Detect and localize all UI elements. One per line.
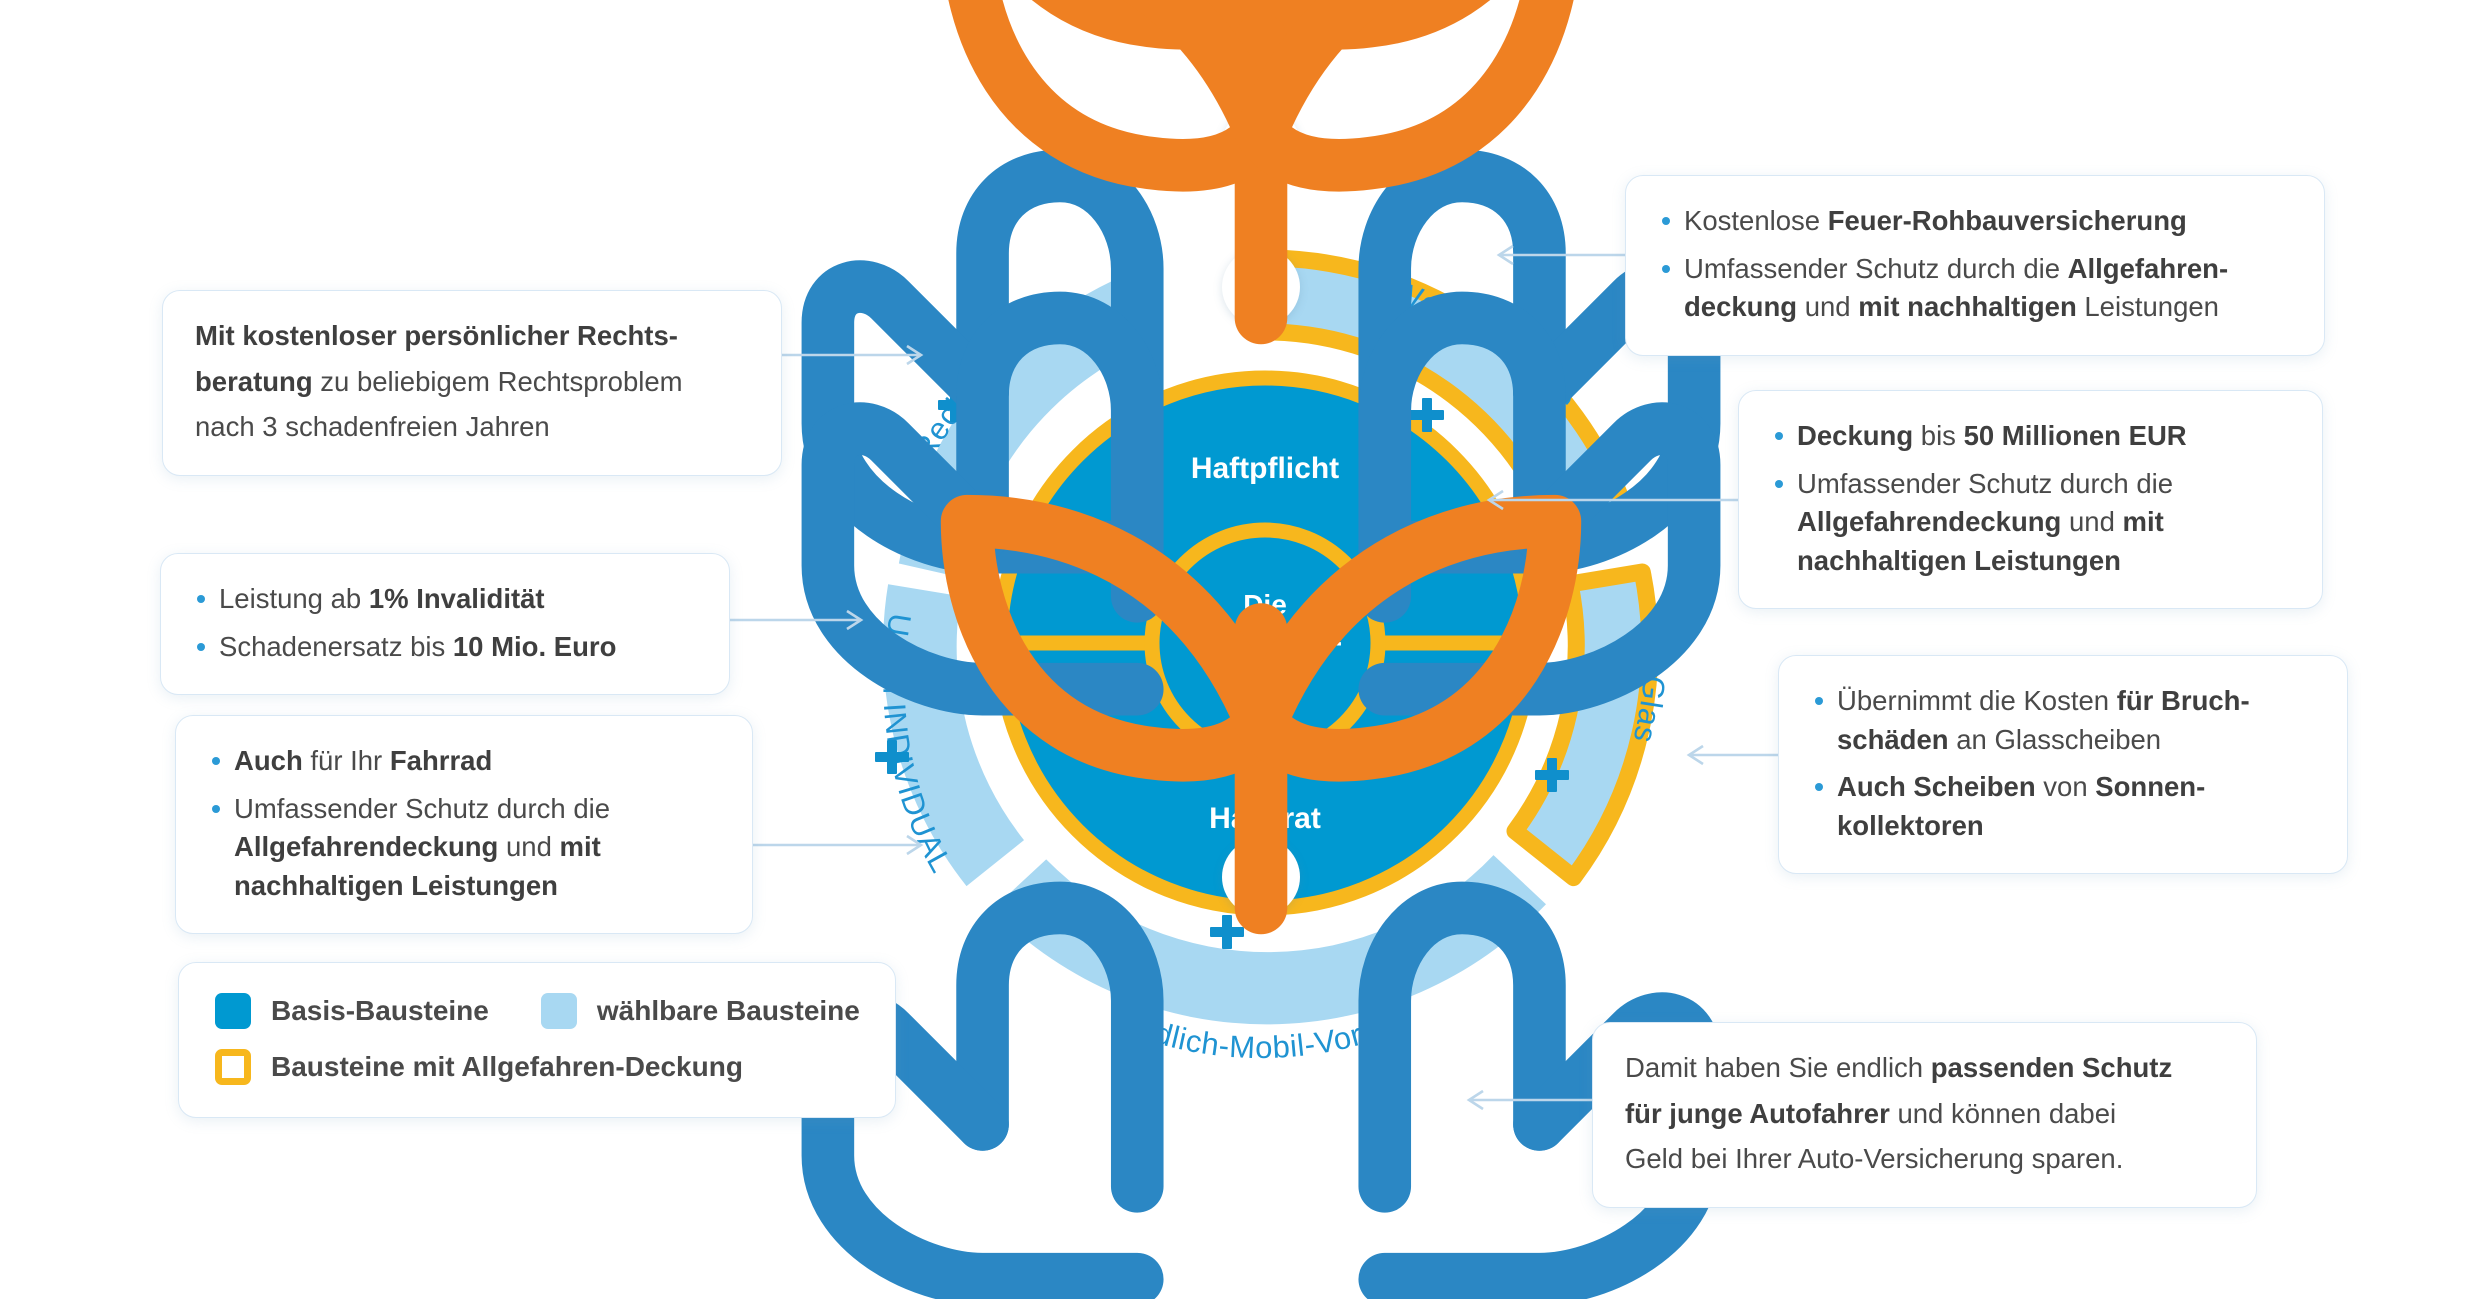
callout-mobil[interactable]: Damit haben Sie endlich passenden Schutz… — [1592, 1022, 2257, 1208]
callout-glas-list: Übernimmt die Kosten für Bruch-schäden a… — [1811, 682, 2315, 845]
legend-row-1: Basis-Bausteine wählbare Bausteine — [215, 993, 861, 1029]
callout-line: für junge Autofahrer und können dabei — [1625, 1095, 2224, 1134]
legend-label-waehlbar: wählbare Bausteine — [597, 995, 860, 1027]
callout-wohngebaeude[interactable]: Kostenlose Feuer-RohbauversicherungUmfas… — [1625, 175, 2325, 356]
legend-row-2: Bausteine mit Allgefahren-Deckung — [215, 1049, 861, 1085]
callout-bullet: Leistung ab 1% Invalidität — [193, 580, 697, 619]
legend-item-waehlbar: wählbare Bausteine — [541, 993, 860, 1029]
legend-label-allgefahren: Bausteine mit Allgefahren-Deckung — [271, 1051, 743, 1083]
callout-bullet: Umfassender Schutz durch die Allgefahren… — [1658, 250, 2292, 327]
callout-line: Damit haben Sie endlich passenden Schutz — [1625, 1049, 2224, 1088]
callout-bullet: Auch für Ihr Fahrrad — [208, 742, 720, 781]
callout-line: beratung zu beliebigem Rechtsproblem — [195, 363, 749, 402]
callout-mobil-body: Damit haben Sie endlich passenden Schutz… — [1625, 1049, 2224, 1179]
legend-swatch-waehlbar — [541, 993, 577, 1029]
callout-unfall[interactable]: Leistung ab 1% InvaliditätSchadenersatz … — [160, 553, 730, 695]
legend-item-basis: Basis-Bausteine — [215, 993, 489, 1029]
callout-wohngebaeude-list: Kostenlose Feuer-RohbauversicherungUmfas… — [1658, 202, 2292, 327]
infographic-canvas: Rechtsschutz Wohngebäude Glas Endlich-Mo… — [0, 0, 2480, 1299]
insurance-wheel-diagram: Rechtsschutz Wohngebäude Glas Endlich-Mo… — [770, 148, 1760, 1138]
callout-bullet: Übernimmt die Kosten für Bruch-schäden a… — [1811, 682, 2315, 759]
callout-fahrrad[interactable]: Auch für Ihr FahrradUmfassender Schutz d… — [175, 715, 753, 934]
callout-unfall-list: Leistung ab 1% InvaliditätSchadenersatz … — [193, 580, 697, 666]
callout-rechtsschutz[interactable]: Mit kostenloser persönlicher Rechts-bera… — [162, 290, 782, 476]
callout-bullet: Auch Scheiben von Sonnen-kollektoren — [1811, 768, 2315, 845]
callout-haftpflicht-list: Deckung bis 50 Millionen EURUmfassender … — [1771, 417, 2290, 580]
callout-bullet: Schadenersatz bis 10 Mio. Euro — [193, 628, 697, 667]
sprout-icon-bottom — [1222, 838, 1300, 916]
legend-swatch-allgefahren — [215, 1049, 251, 1085]
callout-line: nach 3 schadenfreien Jahren — [195, 408, 749, 447]
callout-line: Geld bei Ihrer Auto-Versicherung sparen. — [1625, 1140, 2224, 1179]
callout-bullet: Deckung bis 50 Millionen EUR — [1771, 417, 2290, 456]
callout-haftpflicht[interactable]: Deckung bis 50 Millionen EURUmfassender … — [1738, 390, 2323, 609]
callout-line: Mit kostenloser persönlicher Rechts- — [195, 317, 749, 356]
legend-swatch-basis — [215, 993, 251, 1029]
callout-bullet: Umfassender Schutz durch die Allgefahren… — [208, 790, 720, 906]
sprout-icon-upper-center — [1222, 248, 1300, 326]
callout-bullet: Umfassender Schutz durch die Allgefahren… — [1771, 465, 2290, 581]
callout-glas[interactable]: Übernimmt die Kosten für Bruch-schäden a… — [1778, 655, 2348, 874]
legend-box: Basis-Bausteine wählbare Bausteine Baust… — [178, 962, 896, 1118]
legend-label-basis: Basis-Bausteine — [271, 995, 489, 1027]
callout-bullet: Kostenlose Feuer-Rohbauversicherung — [1658, 202, 2292, 241]
legend-item-allgefahren: Bausteine mit Allgefahren-Deckung — [215, 1049, 743, 1085]
callout-rechtsschutz-body: Mit kostenloser persönlicher Rechts-bera… — [195, 317, 749, 447]
callout-fahrrad-list: Auch für Ihr FahrradUmfassender Schutz d… — [208, 742, 720, 905]
